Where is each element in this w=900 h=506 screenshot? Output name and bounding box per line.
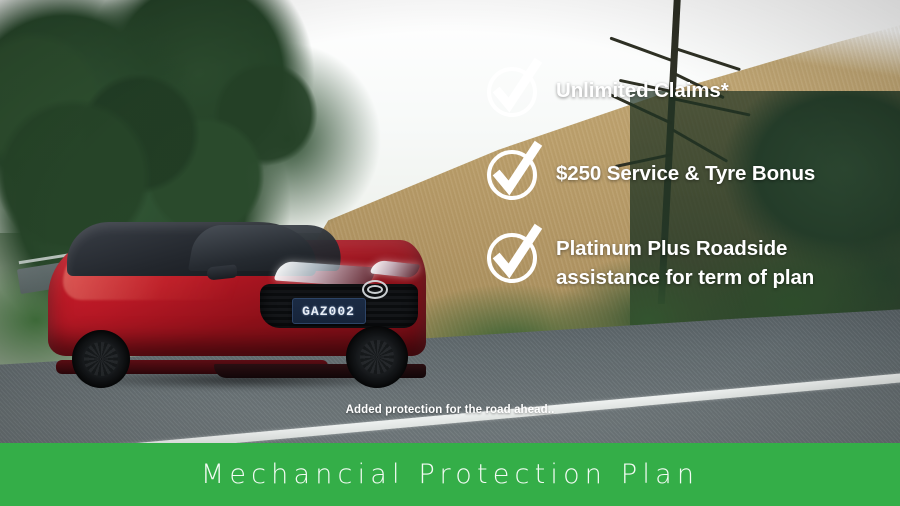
benefit-label-line: Platinum Plus Roadside [556, 234, 814, 263]
check-circle-icon [484, 61, 542, 119]
benefit-item: Platinum Plus Roadside assistance for te… [484, 232, 884, 292]
check-circle-icon [484, 227, 542, 285]
footer-banner: Mechancial Protection Plan [0, 443, 900, 506]
benefit-label: Unlimited Claims* [556, 66, 729, 105]
plan-title: Mechancial Protection Plan [201, 459, 699, 490]
benefits-list: Unlimited Claims* $250 Service & Tyre Bo… [484, 66, 884, 292]
benefit-item: Unlimited Claims* [484, 66, 884, 119]
benefit-label: $250 Service & Tyre Bonus [556, 149, 815, 188]
red-hatchback-car: GAZ002 [48, 222, 426, 384]
promo-banner-image: GAZ002 Unlimited Claims* [0, 0, 900, 506]
tagline-caption: Added protection for the road ahead.. [0, 404, 900, 416]
front-wheel [346, 326, 408, 388]
check-circle-icon [484, 144, 542, 202]
benefit-label-line: assistance for term of plan [556, 263, 814, 292]
benefit-item: $250 Service & Tyre Bonus [484, 149, 884, 202]
rear-wheel [72, 330, 130, 388]
license-plate: GAZ002 [292, 298, 366, 324]
benefit-label-multiline: Platinum Plus Roadside assistance for te… [556, 232, 814, 292]
license-plate-text: GAZ002 [302, 304, 355, 319]
